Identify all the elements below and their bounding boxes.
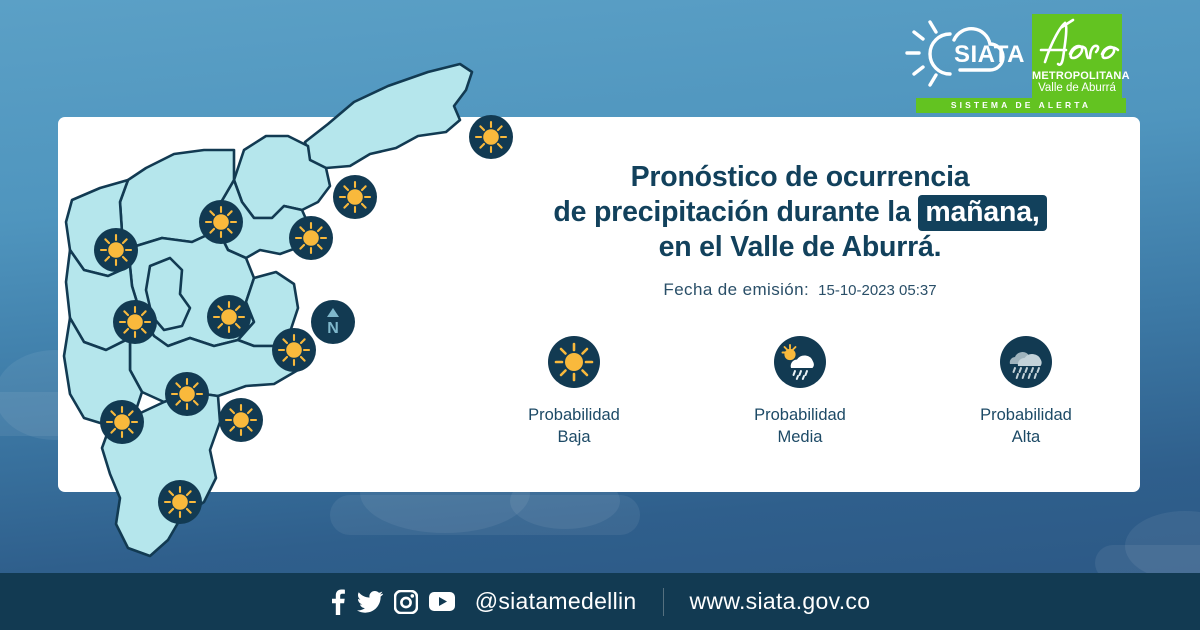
area-script-icon — [1032, 14, 1122, 70]
siata-logo-icon: SIATA — [898, 16, 1026, 92]
marker-girardota — [333, 175, 377, 219]
marker-envigado — [272, 328, 316, 372]
area-line1: METROPOLITANA — [1032, 70, 1122, 82]
north-arrow-icon: N — [311, 300, 355, 344]
legend-item-alta: Probabilidad Alta — [953, 336, 1099, 448]
siata-wordmark: SIATA — [954, 41, 1025, 68]
website-url[interactable]: www.siata.gov.co — [690, 588, 871, 615]
social-links — [330, 589, 455, 615]
footer-bar: @siatamedellin www.siata.gov.co — [0, 573, 1200, 630]
legend-label-media: Probabilidad Media — [727, 404, 873, 448]
instagram-icon[interactable] — [394, 590, 418, 614]
twitter-icon[interactable] — [357, 591, 383, 613]
youtube-icon[interactable] — [429, 592, 455, 611]
page-title: Pronóstico de ocurrencia de precipitació… — [470, 160, 1130, 265]
area-line2: Valle de Aburrá — [1032, 82, 1122, 95]
marker-san-pedro — [94, 228, 138, 272]
social-handle[interactable]: @siatamedellin — [475, 588, 637, 615]
legend-item-baja: Probabilidad Baja — [501, 336, 647, 448]
marker-barbosa — [469, 115, 513, 159]
marker-sabaneta — [165, 372, 209, 416]
cloud-rain-icon — [1000, 336, 1052, 388]
logo-group: SIATA METROPOLITANA Valle de Aburrá SIST… — [898, 14, 1130, 112]
legend-label-alta: Probabilidad Alta — [953, 404, 1099, 448]
siata-tagline: SISTEMA DE ALERTA TEMPRANA — [916, 98, 1126, 113]
sun-cloud-rain-icon — [774, 336, 826, 388]
marker-caldas — [158, 480, 202, 524]
marker-itagui — [113, 300, 157, 344]
marker-la-estrella — [100, 400, 144, 444]
marker-caldas-north — [219, 398, 263, 442]
footer-divider — [663, 588, 664, 616]
title-line-1: Pronóstico de ocurrencia — [470, 160, 1130, 195]
area-metropolitana-logo: METROPOLITANA Valle de Aburrá — [1032, 14, 1122, 102]
sun-icon — [548, 336, 600, 388]
title-line-2-text: de precipitación durante la — [553, 196, 918, 228]
legend-item-media: Probabilidad Media — [727, 336, 873, 448]
marker-bello — [199, 200, 243, 244]
emission-date-row: Fecha de emisión: 15-10-2023 05:37 — [470, 280, 1130, 300]
legend-label-baja: Probabilidad Baja — [501, 404, 647, 448]
marker-copacabana — [289, 216, 333, 260]
compass-label: N — [327, 320, 339, 337]
title-line-3: en el Valle de Aburrá. — [470, 230, 1130, 265]
region-barbosa — [305, 64, 472, 168]
probability-legend: Probabilidad Baja — [470, 336, 1130, 448]
title-line-2: de precipitación durante la mañana, — [470, 195, 1130, 230]
marker-medellin — [207, 295, 251, 339]
info-panel: Pronóstico de ocurrencia de precipitació… — [470, 160, 1130, 448]
valle-de-aburra-map: N — [58, 50, 478, 570]
emission-date-label: Fecha de emisión: — [663, 280, 809, 300]
title-highlight-manana: mañana, — [918, 195, 1046, 231]
facebook-icon[interactable] — [330, 589, 346, 615]
emission-date-value: 15-10-2023 05:37 — [818, 282, 936, 299]
